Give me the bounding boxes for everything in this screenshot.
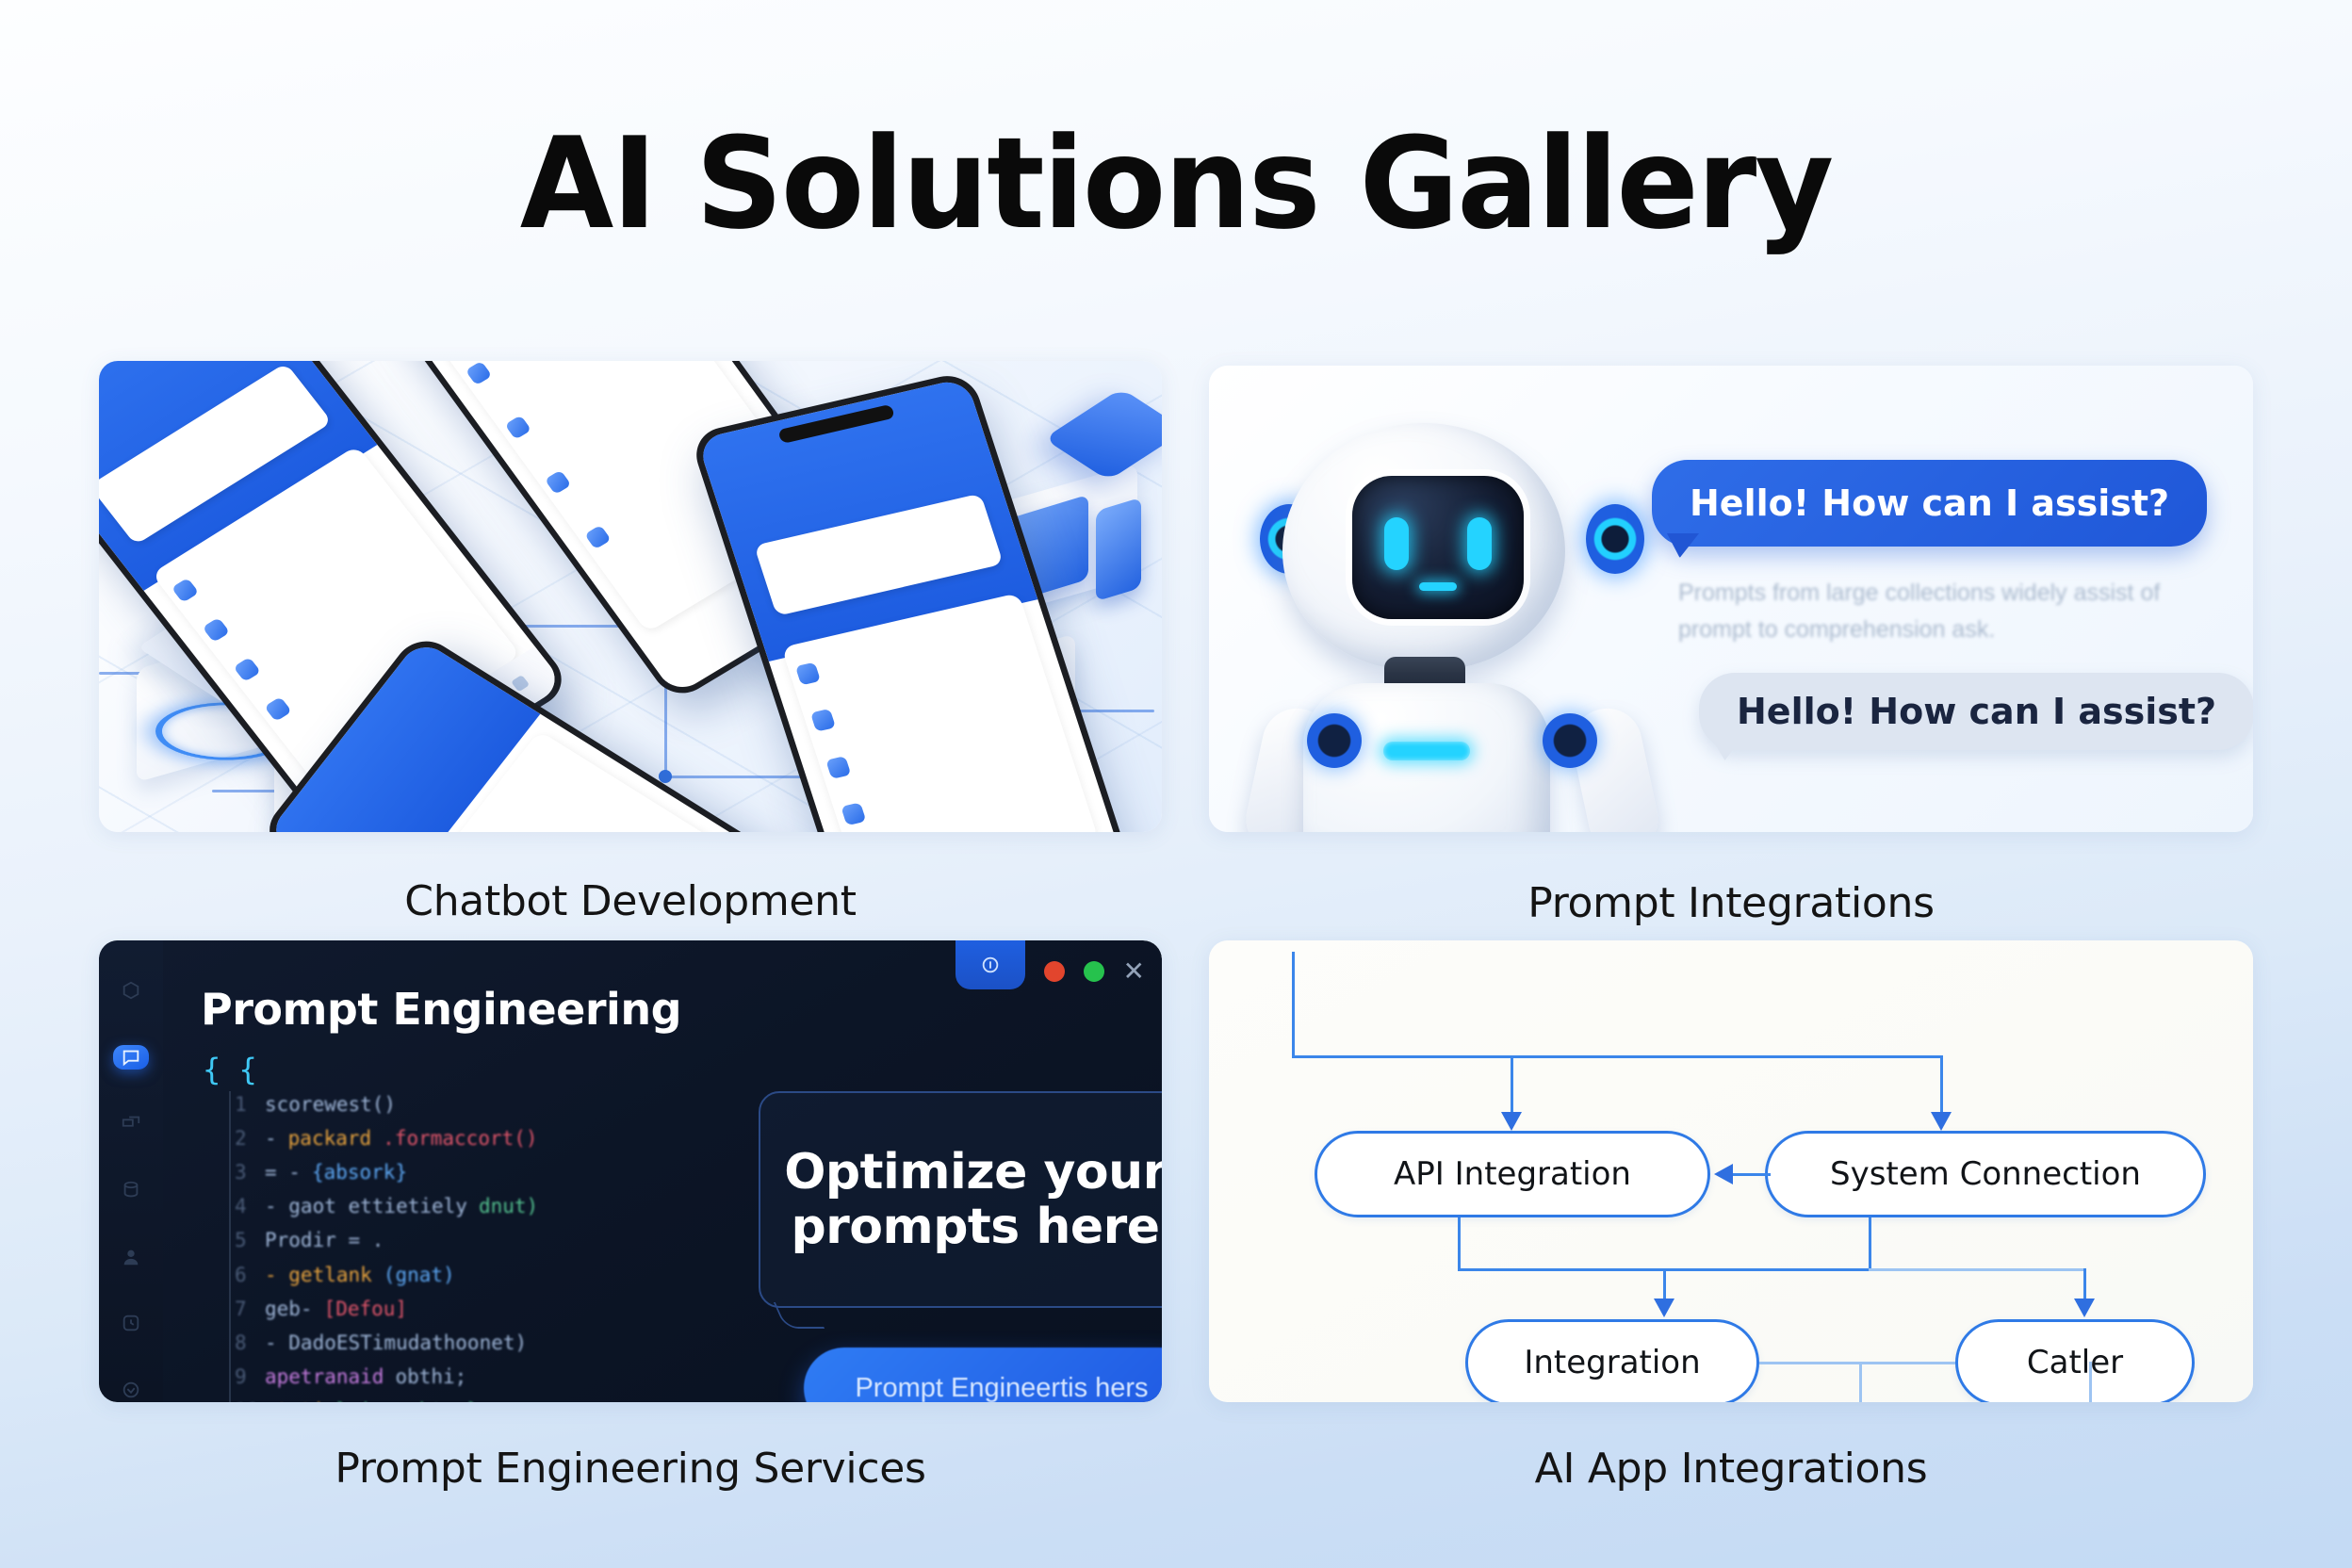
code-token: }rigaschtoo} <box>335 1394 479 1402</box>
editor-icon-rail[interactable] <box>99 940 163 1402</box>
robot-eye-left-icon <box>1384 517 1409 570</box>
user-icon[interactable] <box>113 1244 149 1269</box>
robot-head <box>1282 423 1565 670</box>
code-line-number: 7 <box>235 1292 253 1326</box>
code-token: - <box>265 1121 277 1155</box>
isometric-phone-scene <box>99 361 1162 832</box>
page-title: AI Solutions Gallery <box>47 121 2305 247</box>
code-token: obthi; <box>395 1360 466 1394</box>
layers-icon[interactable] <box>113 1111 149 1136</box>
editor-tab-icon[interactable] <box>955 940 1025 989</box>
code-token: geb- <box>265 1292 313 1326</box>
code-token: Prodir = . <box>265 1223 384 1257</box>
chat-bubble-secondary: Hello! How can I assist? <box>1699 673 2253 750</box>
flow-node-api-integration-top[interactable]: API Integration <box>1315 1131 1710 1217</box>
flow-node-catler[interactable]: Catler <box>1955 1319 2195 1402</box>
card-caption-ai-app-integrations: AI App Integrations <box>1209 1445 2253 1493</box>
code-line-number: 4 <box>235 1189 253 1223</box>
settings-icon[interactable] <box>113 1377 149 1402</box>
flow-node-integration[interactable]: Integration <box>1465 1319 1759 1402</box>
flow-line <box>1759 1362 1955 1364</box>
flow-line <box>1869 1268 2085 1271</box>
card-caption-chatbot-development: Chatbot Development <box>99 877 1162 925</box>
flow-line <box>1292 952 1295 1057</box>
code-editor-window[interactable]: ✕ Prompt Engineering { { 1scorewest()2- … <box>99 940 1162 1402</box>
flow-line <box>2083 1268 2086 1302</box>
code-token: - DadoESTimudathoonet) <box>265 1326 527 1360</box>
robot-mouth-icon <box>1419 582 1457 591</box>
code-token: apetranaid <box>265 1360 384 1394</box>
flow-arrow <box>1931 1112 1952 1131</box>
flow-line <box>1733 1173 1771 1176</box>
flow-arrow <box>2074 1298 2095 1317</box>
close-icon[interactable]: ✕ <box>1123 958 1145 985</box>
flow-diagram: API Integration System Connection <box>1209 940 2253 1402</box>
card-media-ai-app-integrations[interactable]: API Integration System Connection <box>1209 940 2253 1402</box>
window-close-dot[interactable] <box>1044 961 1065 982</box>
code-token: dnut) <box>479 1189 538 1223</box>
code-token: .formaccort() <box>383 1121 537 1155</box>
code-token: - getlank <box>265 1258 372 1292</box>
flow-node-label: Integration <box>1524 1344 1700 1381</box>
flow-arrow <box>1714 1164 1733 1184</box>
code-line-number: 3 <box>235 1155 253 1189</box>
code-line: 8- DadoESTimudathoonet) <box>235 1326 693 1360</box>
gallery-card-prompt-integrations[interactable]: Hello! How can I assist? Prompts from la… <box>1209 366 2253 832</box>
code-line-number: 9 <box>235 1360 253 1394</box>
gallery-card-ai-app-integrations[interactable]: API Integration System Connection <box>1209 940 2253 1402</box>
card-media-prompt-engineering-services[interactable]: ✕ Prompt Engineering { { 1scorewest()2- … <box>99 940 1162 1402</box>
code-token: (gnat) <box>384 1258 455 1292</box>
robot-chest-light-icon <box>1383 742 1470 760</box>
flow-line <box>1663 1268 1666 1302</box>
history-icon[interactable] <box>113 1311 149 1336</box>
window-controls[interactable]: ✕ <box>955 954 1145 989</box>
code-token: {absork} <box>312 1155 407 1189</box>
flow-node-label: Catler <box>2027 1344 2123 1381</box>
logo-icon[interactable] <box>113 978 149 1004</box>
code-line: 5Prodir = . <box>235 1223 693 1257</box>
code-block: { { 1scorewest()2- packard.formaccort()3… <box>203 1052 693 1402</box>
flow-node-label: API Integration <box>1394 1155 1631 1193</box>
code-token: packard <box>288 1121 372 1155</box>
card-caption-prompt-engineering-services: Prompt Engineering Services <box>99 1445 1162 1493</box>
code-line-number: 2 <box>235 1121 253 1155</box>
code-line: 6- getlank(gnat) <box>235 1258 693 1292</box>
card-caption-prompt-integrations: Prompt Integrations <box>1209 879 2253 927</box>
code-line: 7geb-[Defou] <box>235 1292 693 1326</box>
code-line: 3= -{absork} <box>235 1155 693 1189</box>
code-line: 2- packard.formaccort() <box>235 1121 693 1155</box>
robot-eye-right-icon <box>1467 517 1492 570</box>
code-line: 10ptuti}rigaschtoo} <box>235 1394 693 1402</box>
code-line-number: 8 <box>235 1326 253 1360</box>
flow-node-system-connection-top[interactable]: System Connection <box>1765 1131 2206 1217</box>
chat-icon[interactable] <box>113 1045 149 1070</box>
speech-line-2: prompts here <box>791 1199 1159 1255</box>
flow-arrow <box>1501 1112 1522 1131</box>
code-token: scorewest() <box>265 1087 396 1121</box>
code-token: = - <box>265 1155 301 1189</box>
robot-chat-scene: Hello! How can I assist? Prompts from la… <box>1209 366 2253 832</box>
chat-bubble-primary: Hello! How can I assist? <box>1652 460 2207 547</box>
card-media-chatbot-development[interactable] <box>99 361 1162 832</box>
flow-line <box>1869 1217 1871 1270</box>
flow-line <box>2089 1362 2092 1402</box>
gallery-card-chatbot-development[interactable]: Chatbot Development <box>99 361 1162 832</box>
editor-title: Prompt Engineering <box>201 984 681 1035</box>
code-token: - gaot ettietiely <box>265 1189 467 1223</box>
code-open-brace: { { <box>203 1052 693 1087</box>
prompt-engineer-cta-button[interactable]: Prompt Engineertis hers <box>804 1347 1162 1402</box>
code-line-number: 5 <box>235 1223 253 1257</box>
speech-line-1: Optimize your <box>784 1144 1162 1200</box>
code-line: 1scorewest() <box>235 1087 693 1121</box>
flow-line <box>1458 1217 1461 1270</box>
robot-face-screen <box>1352 476 1524 619</box>
robot-ear-right-icon <box>1586 504 1644 574</box>
code-line: 9apetranaid obthi; <box>235 1360 693 1394</box>
window-maximize-dot[interactable] <box>1084 961 1104 982</box>
flow-line <box>1511 1055 1513 1116</box>
code-indent-guide <box>229 1091 231 1402</box>
code-token: ptuti <box>265 1394 324 1402</box>
robot-shoulder-joint-left <box>1307 713 1362 768</box>
code-line-number: 10 <box>235 1394 253 1402</box>
database-icon[interactable] <box>113 1178 149 1203</box>
code-lines: 1scorewest()2- packard.formaccort()3= -{… <box>203 1087 693 1402</box>
code-token: [Defou] <box>324 1292 408 1326</box>
card-media-prompt-integrations[interactable]: Hello! How can I assist? Prompts from la… <box>1209 366 2253 832</box>
speech-bubble-callout: Optimize your prompts here <box>759 1091 1162 1308</box>
flow-line <box>1859 1362 1862 1402</box>
flow-line <box>1292 1055 1942 1058</box>
code-line-number: 1 <box>235 1087 253 1121</box>
robot-shoulder-joint-right <box>1543 713 1597 768</box>
gallery-card-prompt-engineering-services[interactable]: ✕ Prompt Engineering { { 1scorewest()2- … <box>99 940 1162 1402</box>
isometric-screen-panel <box>1096 498 1141 602</box>
chat-blurred-paragraph: Prompts from large collections widely as… <box>1678 575 2253 648</box>
code-line: 4- gaot ettietiely dnut) <box>235 1189 693 1223</box>
robot-illustration <box>1254 414 1650 832</box>
code-line-number: 6 <box>235 1258 253 1292</box>
flow-line <box>1940 1055 1943 1116</box>
flow-arrow <box>1654 1298 1674 1317</box>
flow-node-label: System Connection <box>1830 1155 2141 1193</box>
gallery-grid: Chatbot Development <box>99 361 2253 1492</box>
